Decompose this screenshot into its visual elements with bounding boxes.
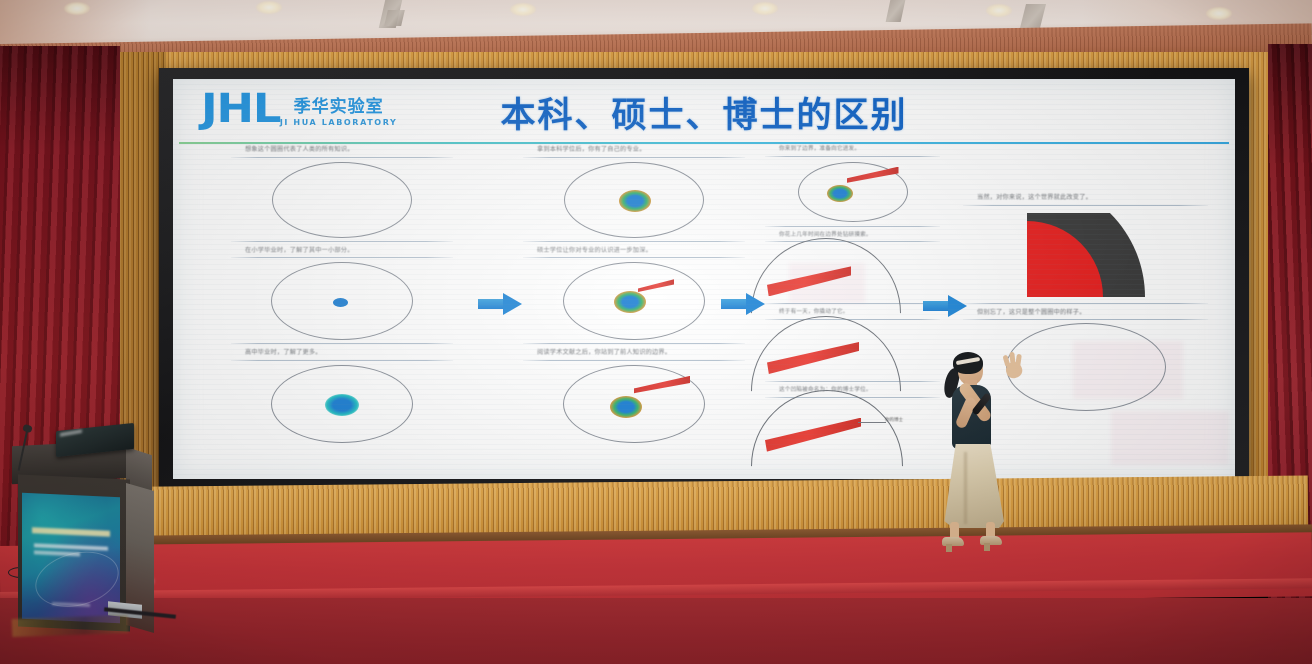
ceiling-downlight xyxy=(1206,7,1232,20)
slide-column-2: 拿到本科学位后，你有了自己的专业。 硕士学位让你对专业的认识进一步加深。 xyxy=(523,145,745,449)
panel-phd-dent: 这个凹陷被命名为：你的博士学位。 你的博士 xyxy=(765,386,940,456)
panel-caption: 高中毕业时，了解了更多。 xyxy=(231,348,453,359)
arrow-col2-to-col3 xyxy=(721,293,765,315)
slide-column-1: 想象这个圆圈代表了人类的所有知识。 在小学毕业时，了解了其中一小部分。 xyxy=(231,145,453,449)
knowledge-halo xyxy=(325,394,359,416)
figure-arc-wedge-2 xyxy=(765,322,940,380)
ceiling-downlight xyxy=(64,2,90,15)
figure-circle-small-dot xyxy=(231,260,453,342)
banner-title-text xyxy=(32,527,110,537)
lectern[interactable] xyxy=(8,425,156,615)
panel-rule xyxy=(765,156,940,157)
panel-caption: 拿到本科学位后，你有了自己的专业。 xyxy=(523,145,745,156)
panel-rule xyxy=(963,319,1208,320)
panel-rule xyxy=(231,241,453,242)
panel-caption: 阅读学术文献之后，你站到了前人知识的边界。 xyxy=(523,348,745,359)
panel-rule xyxy=(231,257,453,258)
panel-rule xyxy=(523,257,745,258)
ceiling-downlight xyxy=(256,1,282,14)
ceiling-downlight xyxy=(752,2,778,15)
knowledge-ellipse xyxy=(563,365,705,443)
panel-at-boundary: 你来到了边界，准备向它进发。 xyxy=(765,145,940,227)
slide-body: 想象这个圆圈代表了人类的所有知识。 在小学毕业时，了解了其中一小部分。 xyxy=(173,145,1235,479)
presenter-finger xyxy=(1009,352,1015,366)
presentation-screen[interactable]: JHL 季华实验室 JI HUA LABORATORY 本科、硕士、博士的区别 … xyxy=(173,79,1235,479)
banner-subtitle-text xyxy=(34,543,108,550)
arrow-col3-to-col4 xyxy=(923,295,967,317)
panel-rule xyxy=(523,241,745,242)
knowledge-ellipse xyxy=(563,262,705,340)
research-spike xyxy=(634,376,690,406)
knowledge-ellipse xyxy=(564,162,704,238)
banner-subtitle-text xyxy=(34,550,80,556)
panel-world-changed: 当然，对你来说，这个世界就此改变了。 xyxy=(963,193,1208,304)
knowledge-ellipse xyxy=(798,162,908,222)
presenter-shoe-heel xyxy=(946,544,952,552)
knowledge-ellipse xyxy=(271,262,413,340)
panel-rule xyxy=(963,303,1208,304)
knowledge-ellipse xyxy=(271,365,413,443)
panel-rule xyxy=(963,205,1208,206)
panel-breakthrough: 终于有一天，你撬动了它。 xyxy=(765,308,940,382)
arrow-head xyxy=(948,295,967,317)
panel-caption: 当然，对你来说，这个世界就此改变了。 xyxy=(963,193,1208,204)
arrow-shaft xyxy=(923,301,951,311)
panel-rule xyxy=(231,360,453,361)
panel-all-knowledge: 想象这个圆圈代表了人类的所有知识。 xyxy=(231,145,453,242)
panel-primary-school: 在小学毕业时，了解了其中一小部分。 xyxy=(231,246,453,345)
panel-caption: 硕士学位让你对专业的认识进一步加深。 xyxy=(523,246,745,257)
background-wash xyxy=(1111,411,1229,465)
specialty-halo xyxy=(614,291,646,313)
figure-arc-broken: 你的博士 xyxy=(765,400,940,456)
specialty-halo xyxy=(827,185,853,202)
panel-caption: 但别忘了，这只是整个圆圈中的样子。 xyxy=(963,308,1208,319)
ceiling-downlight xyxy=(510,3,536,16)
header-divider-rule xyxy=(179,142,1229,144)
knowledge-quarter-circle xyxy=(1027,213,1145,297)
annotation-leader-line xyxy=(858,422,886,423)
ceiling-downlight xyxy=(986,4,1012,17)
arrow-head xyxy=(746,293,765,315)
panel-caption: 终于有一天，你撬动了它。 xyxy=(765,308,940,318)
stage-carpet-front xyxy=(0,598,1312,664)
panel-high-school: 高中毕业时，了解了更多。 xyxy=(231,348,453,445)
knowledge-ellipse xyxy=(272,162,412,238)
lectern-event-banner xyxy=(22,493,120,623)
panel-master: 硕士学位让你对专业的认识进一步加深。 xyxy=(523,246,745,345)
figure-arc-wedge-1 xyxy=(765,244,940,302)
phd-annotation-label: 你的博士 xyxy=(885,417,903,423)
lecture-hall-scene: JHL 季华实验室 JI HUA LABORATORY 本科、硕士、博士的区别 … xyxy=(0,0,1312,664)
panel-rule xyxy=(523,360,745,361)
panel-caption: 你来到了边界，准备向它进发。 xyxy=(765,145,940,155)
arrow-col1-to-col2 xyxy=(478,293,522,315)
gooseneck-mic-head xyxy=(22,424,33,433)
panel-caption: 想象这个圆圈代表了人类的所有知识。 xyxy=(231,145,453,156)
figure-circle-long-spike xyxy=(523,363,745,445)
panel-caption: 你花上几年时间在边界处钻研摸索。 xyxy=(765,231,940,241)
panel-years-of-work: 你花上几年时间在边界处钻研摸索。 xyxy=(765,231,940,305)
figure-quarter-bump xyxy=(963,208,1208,302)
presenter xyxy=(920,352,1050,552)
figure-boundary-spike xyxy=(765,159,940,225)
specialty-halo xyxy=(610,396,642,418)
slide-header: JHL 季华实验室 JI HUA LABORATORY 本科、硕士、博士的区别 xyxy=(173,79,1235,139)
panel-rule xyxy=(231,343,453,344)
presenter-shoe-heel xyxy=(984,543,990,551)
panel-literature-review: 阅读学术文献之后，你站到了前人知识的边界。 xyxy=(523,348,745,445)
slide-title: 本科、硕士、博士的区别 xyxy=(173,87,1235,138)
panel-rule xyxy=(231,157,453,158)
panel-rule xyxy=(523,343,745,344)
panel-rule xyxy=(765,226,940,227)
figure-empty-circle xyxy=(231,160,453,240)
slide-column-3: 你来到了边界，准备向它进发。 你花上几年时间在边界处钻研摸索。 xyxy=(765,145,940,460)
presenter-skirt xyxy=(942,444,1004,528)
arrow-shaft xyxy=(478,299,506,309)
figure-circle-warm-halo xyxy=(523,160,745,240)
specialty-halo xyxy=(619,190,651,212)
panel-bachelor: 拿到本科学位后，你有了自己的专业。 xyxy=(523,145,745,242)
panel-rule xyxy=(523,157,745,158)
arrow-head xyxy=(503,293,522,315)
knowledge-dot xyxy=(333,298,348,307)
figure-circle-teal-halo xyxy=(231,363,453,445)
presenter-skirt-fold xyxy=(964,452,967,524)
research-spike xyxy=(847,167,899,195)
arrow-shaft xyxy=(721,299,749,309)
figure-circle-short-spike xyxy=(523,260,745,342)
panel-caption: 在小学毕业时，了解了其中一小部分。 xyxy=(231,246,453,257)
